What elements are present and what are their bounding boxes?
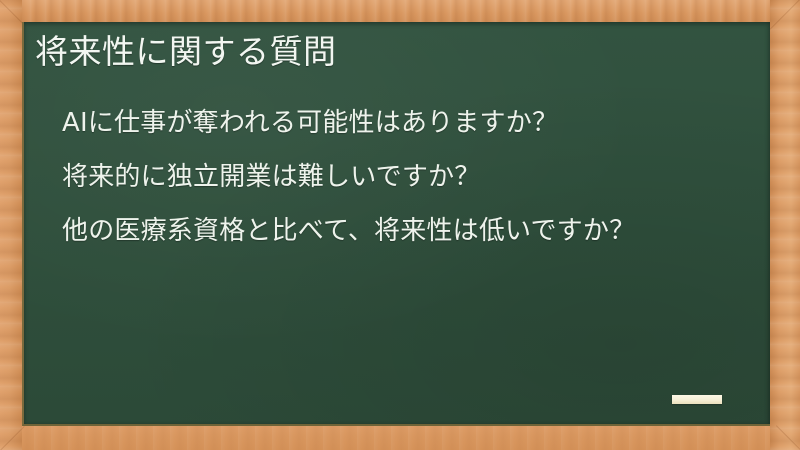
question-item: 将来的に独立開業は難しいですか？	[62, 150, 635, 204]
wood-frame-bottom-ledge	[0, 426, 800, 450]
wood-frame-left	[0, 0, 22, 450]
wood-frame-right	[770, 0, 800, 450]
board-title: 将来性に関する質問	[35, 30, 337, 74]
frame-miter-bottom-right	[776, 425, 800, 450]
wood-frame-top	[0, 0, 800, 24]
frame-miter-top-left	[0, 0, 23, 23]
frame-miter-bottom-left	[0, 426, 25, 450]
chalkboard-surface: 将来性に関する質問 AIに仕事が奪われる可能性はありますか？ 将来的に独立開業は…	[22, 22, 770, 426]
chalk-stick	[672, 395, 722, 404]
question-list: AIに仕事が奪われる可能性はありますか？ 将来的に独立開業は難しいですか？ 他の…	[62, 96, 635, 258]
frame-miter-top-right	[770, 0, 800, 30]
chalkboard-frame: 将来性に関する質問 AIに仕事が奪われる可能性はありますか？ 将来的に独立開業は…	[0, 0, 800, 450]
question-item: AIに仕事が奪われる可能性はありますか？	[62, 96, 635, 150]
question-item: 他の医療系資格と比べて、将来性は低いですか？	[62, 204, 635, 258]
